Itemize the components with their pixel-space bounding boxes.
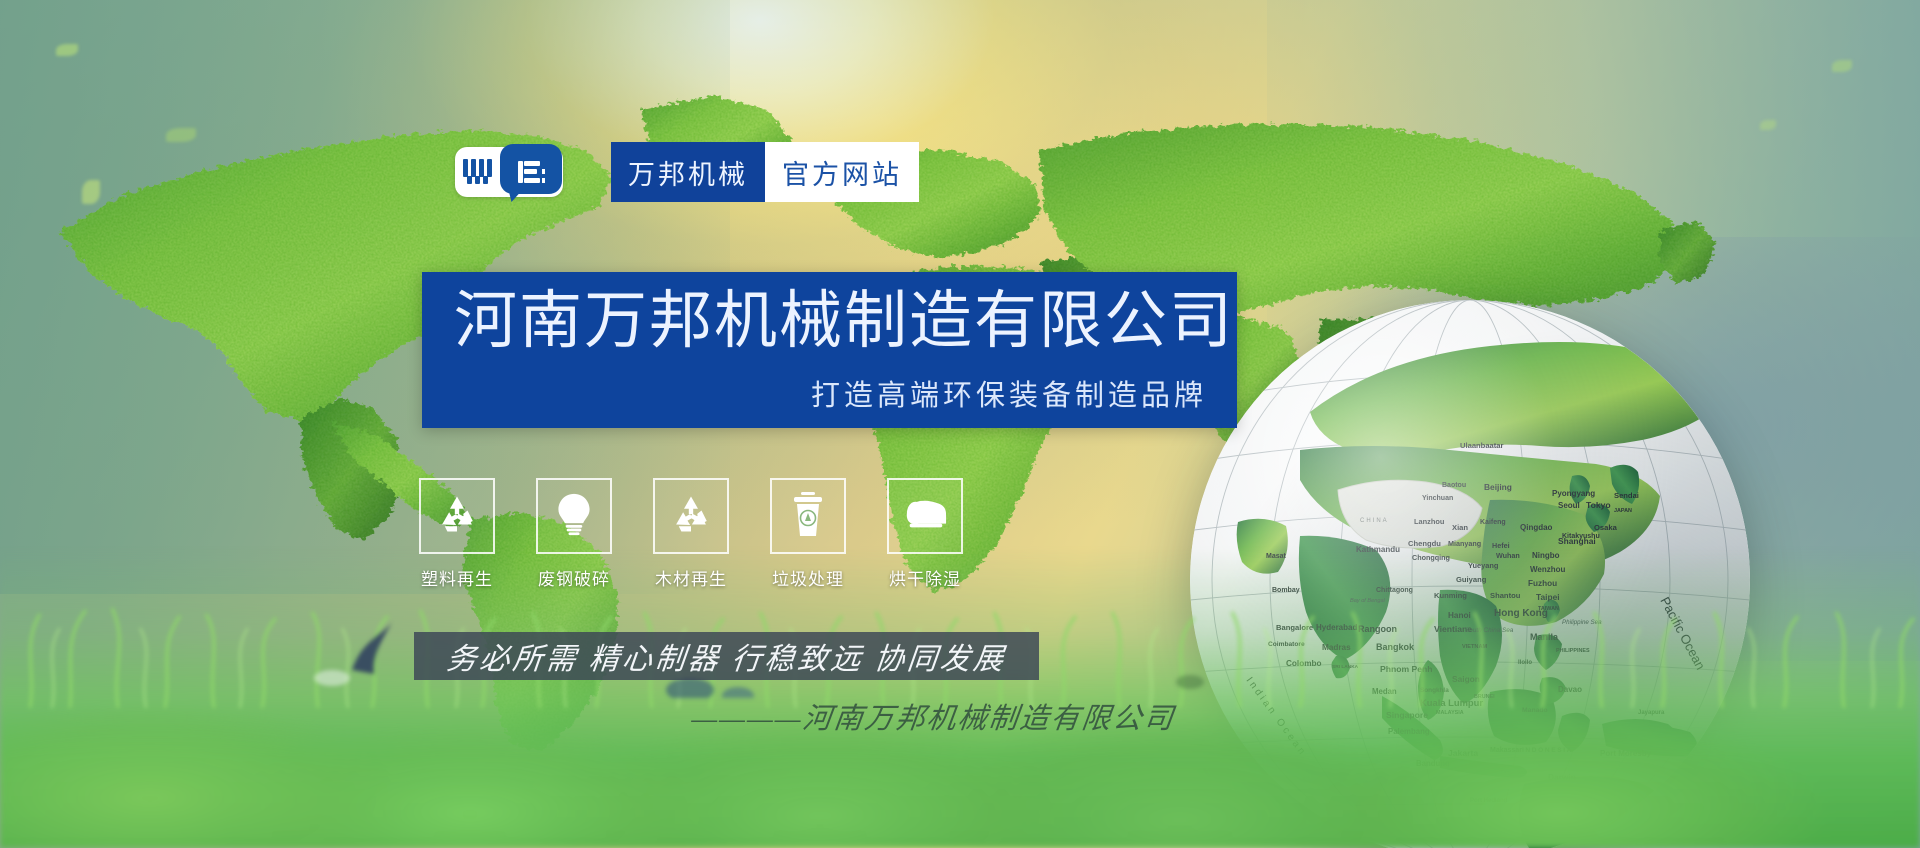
slogan-signature: ————河南万邦机械制造有限公司 bbox=[689, 695, 1177, 737]
wanbang-logo[interactable] bbox=[455, 147, 563, 197]
svg-text:CHINA: CHINA bbox=[1360, 518, 1389, 524]
svg-text:Qingdao: Qingdao bbox=[1520, 523, 1553, 532]
page-subtitle: 打造高端环保装备制造品牌 bbox=[811, 372, 1207, 414]
svg-text:Tokyo: Tokyo bbox=[1586, 500, 1611, 510]
svg-text:Kitakyushu: Kitakyushu bbox=[1562, 533, 1600, 540]
hero-banner: Ulaanbaatar Beijing Baotou Yinchuan Lanz… bbox=[0, 0, 1920, 848]
svg-text:Lanzhou: Lanzhou bbox=[1414, 517, 1445, 526]
feature-label: 废钢破碎 bbox=[538, 565, 610, 590]
recycle-icon bbox=[670, 493, 712, 540]
bokeh-leaf-2 bbox=[166, 128, 196, 142]
svg-text:Seoul: Seoul bbox=[1558, 501, 1580, 510]
feature-label: 垃圾处理 bbox=[772, 565, 844, 590]
feature-icon-box[interactable] bbox=[419, 478, 495, 554]
svg-text:Pyongyang: Pyongyang bbox=[1552, 489, 1595, 498]
feature-icon-box[interactable] bbox=[770, 478, 846, 554]
feature-icon-box[interactable] bbox=[887, 478, 963, 554]
svg-text:Sendai: Sendai bbox=[1614, 491, 1639, 500]
feature-wood-recycling[interactable]: 木材再生 bbox=[652, 478, 730, 590]
dryer-blower-icon bbox=[902, 497, 948, 536]
feature-icon-box[interactable] bbox=[536, 478, 612, 554]
feature-plastic-recycling[interactable]: 塑料再生 bbox=[418, 478, 496, 590]
bokeh-leaf-4 bbox=[1832, 60, 1852, 72]
svg-text:Mianyang: Mianyang bbox=[1448, 539, 1481, 548]
svg-text:Xian: Xian bbox=[1452, 523, 1468, 532]
svg-text:Baotou: Baotou bbox=[1442, 482, 1466, 489]
svg-text:Beijing: Beijing bbox=[1484, 482, 1512, 492]
svg-text:Yinchuan: Yinchuan bbox=[1422, 495, 1453, 502]
slogan-bar: 务必所需 精心制器 行稳致远 协同发展 bbox=[414, 632, 1039, 680]
feature-waste-treatment[interactable]: 垃圾处理 bbox=[769, 478, 847, 590]
logo-w-icon bbox=[456, 147, 500, 197]
trash-bin-icon bbox=[791, 492, 825, 541]
feature-scrap-steel-crushing[interactable]: 废钢破碎 bbox=[535, 478, 613, 590]
brand-name-box[interactable]: 万邦机械 bbox=[611, 142, 765, 202]
svg-text:JAPAN: JAPAN bbox=[1614, 508, 1632, 514]
svg-text:Chengdu: Chengdu bbox=[1408, 539, 1441, 548]
bokeh-leaf-3 bbox=[82, 180, 100, 204]
svg-text:Kaifeng: Kaifeng bbox=[1480, 519, 1506, 526]
bokeh-leaf-1 bbox=[56, 44, 78, 56]
official-site-box[interactable]: 官方网站 bbox=[765, 142, 919, 202]
feature-label: 木材再生 bbox=[655, 565, 727, 590]
feature-icon-box[interactable] bbox=[653, 478, 729, 554]
bokeh-leaf-5 bbox=[1760, 120, 1776, 130]
feature-label: 塑料再生 bbox=[421, 565, 493, 590]
hero-title-panel: 河南万邦机械制造有限公司 打造高端环保装备制造品牌 bbox=[422, 272, 1237, 428]
feature-drying-dehumidifying[interactable]: 烘干除湿 bbox=[886, 478, 964, 590]
feature-icon-row: 塑料再生 废钢破碎 bbox=[418, 478, 964, 590]
page-title: 河南万邦机械制造有限公司 bbox=[454, 285, 1234, 357]
recycle-icon bbox=[436, 493, 478, 540]
logo-b-bubble-icon bbox=[500, 144, 562, 200]
svg-text:Osaka: Osaka bbox=[1594, 523, 1618, 532]
lightbulb-icon bbox=[554, 492, 594, 541]
svg-text:Ulaanbaatar: Ulaanbaatar bbox=[1460, 441, 1504, 450]
site-header: 万邦机械 官方网站 bbox=[455, 142, 919, 202]
slogan-text: 务必所需 精心制器 行稳致远 协同发展 bbox=[444, 634, 1008, 678]
feature-label: 烘干除湿 bbox=[889, 565, 961, 590]
